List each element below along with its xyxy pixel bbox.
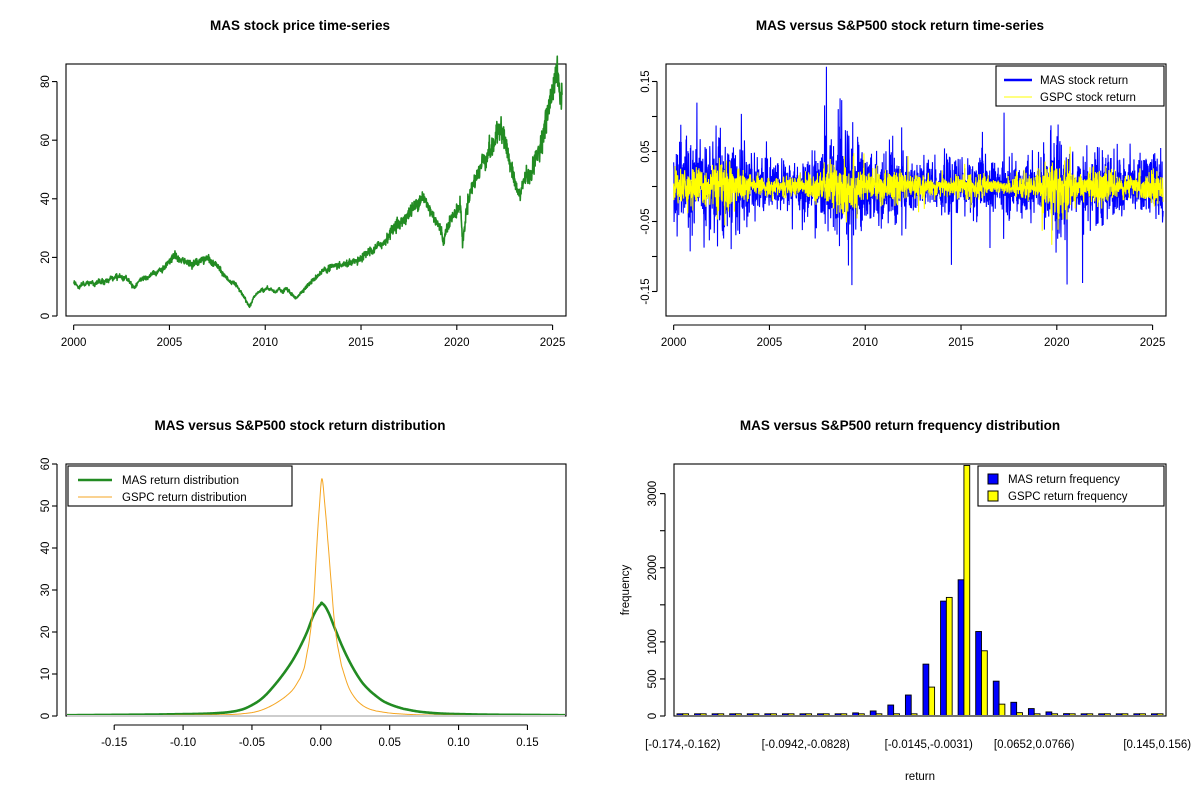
x-tick-label: [0.145,0.156): [1123, 739, 1191, 751]
svg-text:MAS versus S&P500 stock return: MAS versus S&P500 stock return time-seri…: [756, 18, 1044, 33]
gspc-bar: [982, 651, 988, 716]
mas-price-chart: MAS stock price time-series2000200520102…: [0, 0, 600, 400]
y-tick-label: 20: [40, 626, 52, 639]
mas-bar: [905, 695, 911, 716]
y-tick-label: -0.05: [640, 208, 652, 234]
gspc-bar: [929, 687, 935, 716]
y-tick-label: 60: [40, 458, 52, 471]
legend-label: MAS stock return: [1040, 75, 1128, 87]
y-tick-label: 0.05: [640, 140, 652, 162]
y-tick-label: 0.15: [640, 70, 652, 92]
x-axis-label: return: [905, 771, 935, 783]
y-tick-label: 80: [40, 75, 52, 88]
gspc-bar: [964, 465, 970, 716]
x-tick-label: 2000: [61, 337, 87, 349]
x-tick-label: [0.0652,0.0766): [994, 739, 1075, 751]
panel-mas-vs-gspc-return-frequency: MAS versus S&P500 return frequency distr…: [600, 400, 1200, 800]
y-tick-label: 20: [40, 251, 52, 264]
x-tick-label: 2020: [1044, 337, 1070, 349]
legend-label: MAS return distribution: [122, 475, 239, 487]
y-tick-label: 30: [40, 584, 52, 597]
mas-density-line: [66, 603, 566, 715]
x-tick-label: 0.15: [516, 737, 538, 749]
x-tick-label: 2020: [444, 337, 470, 349]
y-tick-label: 40: [40, 542, 52, 555]
legend-label: GSPC return frequency: [1008, 491, 1128, 503]
x-tick-label: 0.05: [378, 737, 400, 749]
x-tick-label: 0.00: [310, 737, 332, 749]
legend-label: GSPC stock return: [1040, 92, 1136, 104]
return-histogram-chart: MAS versus S&P500 return frequency distr…: [600, 400, 1200, 800]
x-tick-label: 2005: [157, 337, 183, 349]
mas-price-line: [74, 56, 563, 307]
y-tick-label: 10: [40, 668, 52, 681]
y-tick-label: 2000: [647, 555, 659, 581]
x-tick-label: 2025: [1140, 337, 1166, 349]
legend-swatch: [988, 491, 998, 501]
y-tick-label: 1000: [647, 629, 659, 655]
y-tick-label: 0: [40, 313, 52, 319]
x-tick-label: [-0.0145,-0.0031): [885, 739, 973, 751]
mas-bar: [1011, 702, 1017, 716]
y-tick-label: 500: [647, 669, 659, 688]
gspc-bar: [999, 704, 1005, 716]
gspc-density-line: [66, 479, 566, 716]
y-tick-label: 3000: [647, 481, 659, 507]
x-tick-label: 0.10: [447, 737, 469, 749]
x-tick-label: 2015: [348, 337, 374, 349]
y-tick-label: 50: [40, 500, 52, 513]
svg-text:MAS versus S&P500 return frequ: MAS versus S&P500 return frequency distr…: [740, 418, 1060, 433]
x-tick-label: 2000: [661, 337, 687, 349]
panel-mas-price-timeseries: MAS stock price time-series2000200520102…: [0, 0, 600, 400]
x-tick-label: 2025: [540, 337, 566, 349]
y-tick-label: 60: [40, 134, 52, 147]
svg-text:MAS stock price time-series: MAS stock price time-series: [210, 18, 390, 33]
mas-bar: [870, 711, 876, 716]
x-tick-label: 2010: [852, 337, 878, 349]
return-density-chart: MAS versus S&P500 stock return distribut…: [0, 400, 600, 800]
x-tick-label: [-0.0942,-0.0828): [762, 739, 850, 751]
x-tick-label: 2005: [757, 337, 783, 349]
y-tick-label: -0.15: [640, 278, 652, 304]
legend-label: MAS return frequency: [1008, 474, 1120, 486]
panel-mas-vs-gspc-return-timeseries: MAS versus S&P500 stock return time-seri…: [600, 0, 1200, 400]
mas-bar: [1028, 709, 1034, 716]
figure-panel-grid: MAS stock price time-series2000200520102…: [0, 0, 1200, 800]
mas-bar: [993, 681, 999, 716]
legend-label: GSPC return distribution: [122, 492, 247, 504]
y-tick-label: 0: [40, 713, 52, 719]
x-tick-label: -0.05: [239, 737, 265, 749]
panel-mas-vs-gspc-return-distribution: MAS versus S&P500 stock return distribut…: [0, 400, 600, 800]
x-tick-label: -0.15: [101, 737, 127, 749]
gspc-bar: [946, 597, 952, 716]
x-tick-label: 2015: [948, 337, 974, 349]
legend-swatch: [988, 474, 998, 484]
mas-bar: [941, 601, 947, 716]
mas-bar: [923, 664, 929, 716]
mas-bar: [958, 580, 964, 716]
mas-bar: [888, 705, 894, 716]
gspc-return-line: [674, 147, 1163, 245]
x-tick-label: -0.10: [170, 737, 196, 749]
x-tick-label: [-0.174,-0.162): [645, 739, 721, 751]
x-tick-label: 2010: [252, 337, 278, 349]
svg-text:MAS versus S&P500 stock return: MAS versus S&P500 stock return distribut…: [154, 418, 445, 433]
y-tick-label: 40: [40, 192, 52, 205]
y-axis-label: frequency: [620, 565, 632, 616]
mas-bar: [976, 632, 982, 716]
y-tick-label: 0: [647, 713, 659, 719]
return-timeseries-chart: MAS versus S&P500 stock return time-seri…: [600, 0, 1200, 400]
mas-bar: [1046, 712, 1052, 716]
